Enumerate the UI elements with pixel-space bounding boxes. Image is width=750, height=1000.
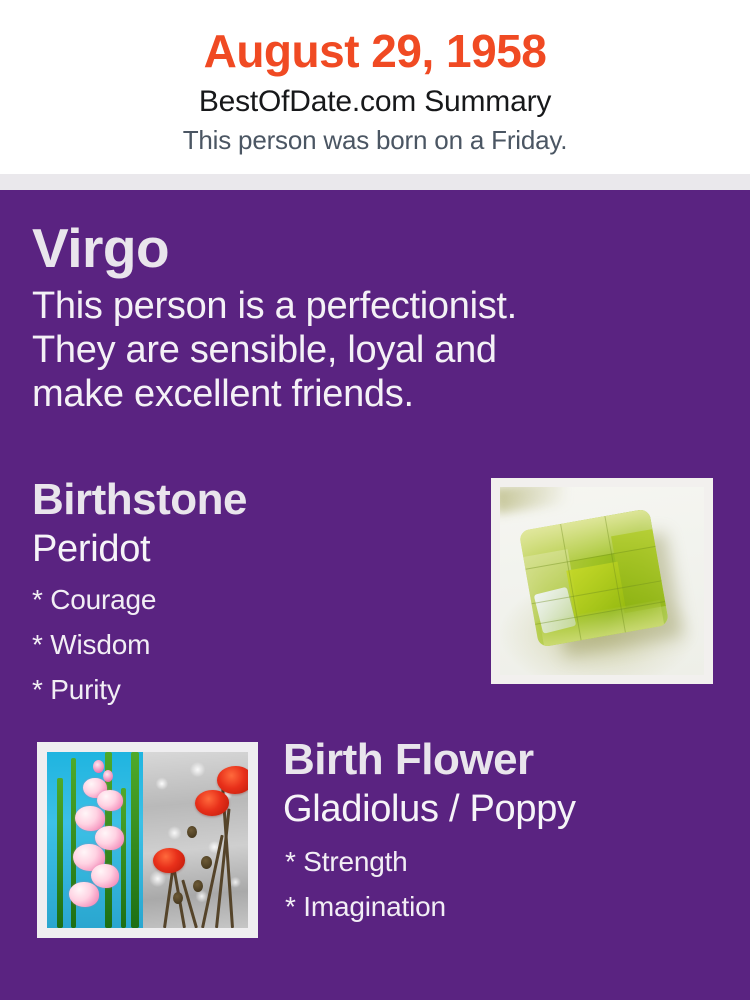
birth-flower-photo-inner [47, 752, 248, 928]
list-item: * Wisdom [32, 622, 472, 667]
zodiac-description-line: This person is a perfectionist. [32, 284, 672, 328]
list-item: * Imagination [285, 884, 723, 929]
born-day-note: This person was born on a Friday. [0, 120, 750, 156]
birthstone-photo [491, 478, 713, 684]
birthstone-section: Birthstone Peridot * Courage * Wisdom * … [32, 475, 472, 712]
details-panel: Virgo This person is a perfectionist. Th… [0, 190, 750, 1000]
list-item: * Purity [32, 667, 472, 712]
header: August 29, 1958 BestOfDate.com Summary T… [0, 0, 750, 174]
summary-card: August 29, 1958 BestOfDate.com Summary T… [0, 0, 750, 1000]
list-item: * Strength [285, 839, 723, 884]
flower-split-panels [47, 752, 248, 928]
list-item: * Courage [32, 577, 472, 622]
birthstone-name: Peridot [32, 525, 472, 571]
gladiolus-panel [47, 752, 143, 928]
gem-backdrop [500, 487, 704, 675]
birth-flower-title: Birth Flower [283, 735, 723, 785]
zodiac-section: Virgo This person is a perfectionist. Th… [32, 218, 672, 416]
birth-flower-photo [37, 742, 258, 938]
header-divider [0, 174, 750, 190]
site-summary-label: BestOfDate.com Summary [0, 78, 750, 120]
zodiac-description-line: make excellent friends. [32, 372, 672, 416]
zodiac-sign-name: Virgo [32, 218, 672, 278]
page-title: August 29, 1958 [0, 0, 750, 78]
peridot-crystal-icon [519, 508, 669, 647]
zodiac-description-line: They are sensible, loyal and [32, 328, 672, 372]
zodiac-description: This person is a perfectionist. They are… [32, 278, 672, 416]
birth-flower-trait-list: * Strength * Imagination [283, 831, 723, 929]
birthstone-title: Birthstone [32, 475, 472, 525]
birthstone-photo-inner [500, 487, 704, 675]
birthstone-trait-list: * Courage * Wisdom * Purity [32, 571, 472, 712]
birth-flower-name: Gladiolus / Poppy [283, 785, 723, 831]
birth-flower-section: Birth Flower Gladiolus / Poppy * Strengt… [283, 735, 723, 929]
poppy-panel [143, 752, 248, 928]
